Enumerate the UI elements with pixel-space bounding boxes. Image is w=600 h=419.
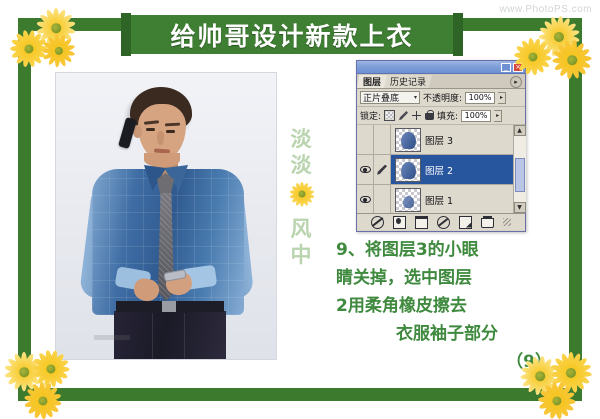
frame-border-right [569,18,582,401]
panel-titlebar[interactable]: _ × [357,61,525,74]
adjustment-layer-icon[interactable] [437,216,450,229]
visibility-toggle-layer-3[interactable] [357,125,374,154]
new-group-icon[interactable] [415,216,428,229]
scroll-down-icon[interactable]: ▼ [514,202,526,213]
lock-transparency-icon[interactable] [384,110,395,121]
frame-border-bottom [18,388,582,401]
site-watermark: www.PhotoPS.com [499,4,592,15]
blend-mode-value: 正片叠底 [363,91,399,104]
screenshot-root: www.PhotoPS.com 给帅哥设计新款上衣 [0,0,600,419]
daisy-small [288,180,316,208]
chevron-down-icon: ▾ [414,94,417,101]
banner-cap-left [121,13,131,56]
daisy-petal [33,400,45,419]
eye-left [146,128,155,131]
eye-icon [360,166,371,173]
layer-name-3: 图层 3 [425,133,453,147]
lock-icon-group[interactable] [384,110,434,121]
lock-all-icon[interactable] [425,113,434,120]
trouser-pleat [152,313,153,360]
instruction-line-4: 衣服袖子部分 [336,320,558,348]
tab-layers[interactable]: 图层 [357,75,387,88]
daisy-center [299,191,306,198]
panel-tabs[interactable]: 图层 历史记录 ▸ [357,74,525,89]
vertical-watermark-bottom: 风中 [284,216,318,268]
lock-fill-row: 锁定: 填充: 100% ▸ [357,107,525,125]
instruction-line-2: 睛关掉，选中图层 [336,268,472,288]
page-title: 给帅哥设计新款上衣 [170,17,413,53]
resize-grip-icon[interactable] [503,218,511,226]
layer-thumbnail-2 [395,158,421,182]
scroll-up-icon[interactable]: ▲ [514,125,526,136]
panel-menu-icon[interactable]: ▸ [510,76,522,88]
link-toggle-layer-3[interactable] [374,125,391,154]
new-layer-icon[interactable] [459,216,472,229]
instruction-line-3: 2用柔角橡皮擦去 [336,296,467,316]
daisy-petal [549,400,560,419]
brush-icon [377,165,387,175]
vertical-watermark-top: 淡淡 [284,126,318,178]
lock-label: 锁定: [360,109,381,122]
layer-name-2: 图层 2 [425,163,453,177]
banner-cap-right [453,13,463,56]
daisy-petal [27,399,45,416]
layer-thumbnail-1 [395,188,421,212]
layer-row-1[interactable]: 图层 1 [357,185,513,213]
photo-corner-mark [94,335,130,340]
layer-list-container: 图层 3 图层 2 [357,125,525,213]
fill-input[interactable]: 100% [461,110,491,122]
layer-thumbnail-3 [395,128,421,152]
daisy-petal [40,401,47,419]
title-banner: 给帅哥设计新款上衣 [131,13,453,56]
layer-name-1: 图层 1 [425,193,453,207]
visibility-toggle-layer-1[interactable] [357,185,374,213]
scrollbar-thumb[interactable] [515,158,525,192]
opacity-label: 不透明度: [423,91,462,104]
instruction-text: 9、将图层3的小眼 睛关掉，选中图层 2用柔角橡皮擦去 衣服袖子部分 （9） [336,236,558,376]
layer-list-scrollbar[interactable]: ▲ ▼ [513,125,525,213]
visibility-toggle-layer-2[interactable] [357,155,374,184]
layer-list: 图层 3 图层 2 [357,125,513,213]
subject-photo [55,72,277,360]
eye-icon [360,196,371,203]
close-button[interactable]: × [513,63,523,72]
lock-brush-icon[interactable] [399,111,408,120]
blend-opacity-row: 正片叠底 ▾ 不透明度: 100% ▸ [357,89,525,107]
instruction-line-1: 9、将图层3的小眼 [336,240,479,260]
layer-mask-icon[interactable] [393,216,406,229]
tab-history[interactable]: 历史记录 [384,75,432,88]
delete-layer-icon[interactable] [481,218,494,228]
chin [144,153,180,167]
lock-move-icon[interactable] [412,111,421,120]
opacity-spinner-icon[interactable]: ▸ [498,92,506,104]
layer-row-2[interactable]: 图层 2 [357,155,513,185]
daisy-petal [555,399,570,417]
eye-right [166,130,175,133]
daisy-petal [542,399,559,417]
fill-label: 填充: [437,109,458,122]
fill-spinner-icon[interactable]: ▸ [494,110,502,122]
frame-border-left [18,18,31,401]
link-toggle-layer-1[interactable] [374,185,391,213]
opacity-input[interactable]: 100% [465,92,495,104]
nose [157,131,164,145]
vertical-watermark-flower-icon [288,180,316,208]
scrollbar-track[interactable] [514,136,526,202]
daisy-petal [41,400,55,419]
trouser-pleat [184,313,185,360]
instruction-step-number: （9） [336,348,558,376]
layer-style-icon[interactable] [371,216,384,229]
link-toggle-layer-2[interactable] [374,155,391,184]
panel-bottom-toolbar[interactable] [357,213,525,230]
daisy-petal [554,401,563,419]
trousers [114,311,226,360]
belt-buckle [162,301,176,312]
photoshop-layers-panel[interactable]: _ × 图层 历史记录 ▸ 正片叠底 ▾ 不透明度: 100% ▸ 锁定: [356,60,526,232]
layer-row-3[interactable]: 图层 3 [357,125,513,155]
blend-mode-select[interactable]: 正片叠底 ▾ [360,91,420,104]
minimize-button[interactable]: _ [501,63,511,72]
